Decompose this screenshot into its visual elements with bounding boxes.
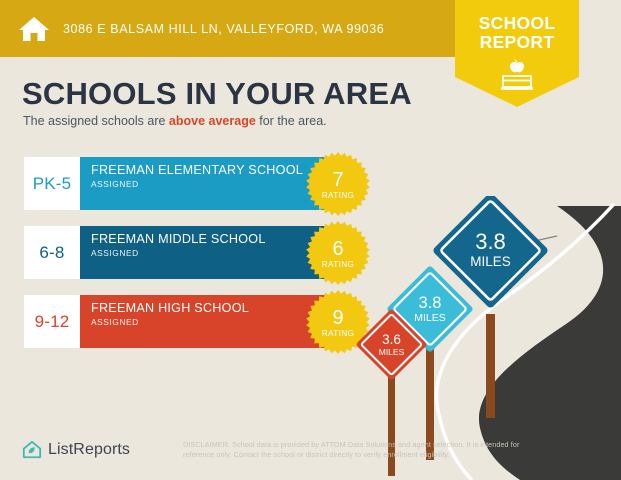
school-report-infographic: 3086 E BALSAM HILL LN, VALLEYFORD, WA 99…: [0, 0, 621, 480]
table-row[interactable]: 6-8 FREEMAN MIDDLE SCHOOL ASSIGNED 6 RAT…: [24, 226, 334, 279]
rating-caption: RATING: [322, 259, 355, 269]
road-illustration: 3.8 MILES 3.8 MILES 3.6 MILES: [352, 196, 621, 480]
rating-caption: RATING: [322, 190, 355, 200]
grade-range-label: 6-8: [39, 243, 64, 263]
grade-chip: 9-12: [24, 295, 80, 348]
disclaimer-text: DISCLAIMER: School data is provided by A…: [183, 440, 543, 459]
school-report-badge: SCHOOL REPORT: [455, 0, 579, 107]
assigned-status: ASSIGNED: [91, 179, 334, 189]
distance-unit-2: MILES: [414, 312, 446, 324]
table-row[interactable]: PK-5 FREEMAN ELEMENTARY SCHOOL ASSIGNED …: [24, 157, 334, 210]
home-icon: [17, 12, 51, 46]
logo-text: ListReports: [48, 441, 130, 459]
grade-range-label: PK-5: [33, 174, 72, 194]
apple-icon: [510, 59, 524, 72]
page-title: SCHOOLS IN YOUR AREA: [22, 76, 412, 112]
page-subtitle: The assigned schools are above average f…: [23, 114, 327, 128]
table-row[interactable]: 9-12 FREEMAN HIGH SCHOOL ASSIGNED 9 RATI…: [24, 295, 334, 348]
rating-value: 9: [332, 309, 343, 328]
grade-range-label: 9-12: [35, 312, 70, 332]
rating-value: 6: [332, 240, 343, 259]
distance-unit-1: MILES: [379, 347, 405, 357]
badge-line-2: REPORT: [455, 33, 579, 52]
school-info: FREEMAN ELEMENTARY SCHOOL ASSIGNED: [80, 157, 334, 210]
listreports-logo[interactable]: ListReports: [22, 440, 130, 460]
school-name: FREEMAN MIDDLE SCHOOL: [91, 232, 334, 247]
grade-chip: 6-8: [24, 226, 80, 279]
property-address: 3086 E BALSAM HILL LN, VALLEYFORD, WA 99…: [63, 22, 384, 36]
distance-value-2: 3.8: [419, 294, 442, 312]
grade-chip: PK-5: [24, 157, 80, 210]
school-name: FREEMAN HIGH SCHOOL: [91, 301, 334, 316]
sign-post-1: [388, 372, 395, 476]
rating-caption: RATING: [322, 328, 355, 338]
distance-value-3: 3.8: [475, 229, 506, 254]
subtitle-highlight: above average: [169, 114, 256, 128]
rating-value: 7: [332, 171, 343, 190]
badge-line-1: SCHOOL: [455, 14, 579, 33]
school-info: FREEMAN MIDDLE SCHOOL ASSIGNED: [80, 226, 334, 279]
subtitle-before: The assigned schools are: [23, 114, 169, 128]
apple-and-book-icon: [494, 57, 540, 93]
assigned-status: ASSIGNED: [91, 248, 334, 258]
school-name: FREEMAN ELEMENTARY SCHOOL: [91, 163, 334, 178]
subtitle-after: for the area.: [256, 114, 327, 128]
distance-value-1: 3.6: [382, 332, 401, 347]
house-leaf-icon: [22, 440, 42, 460]
sign-post-3: [486, 314, 495, 418]
school-list: PK-5 FREEMAN ELEMENTARY SCHOOL ASSIGNED …: [24, 157, 334, 364]
assigned-status: ASSIGNED: [91, 317, 334, 327]
address-header-bar: 3086 E BALSAM HILL LN, VALLEYFORD, WA 99…: [0, 0, 456, 57]
school-info: FREEMAN HIGH SCHOOL ASSIGNED: [80, 295, 334, 348]
distance-unit-3: MILES: [470, 254, 511, 269]
book-icon: [503, 76, 531, 87]
